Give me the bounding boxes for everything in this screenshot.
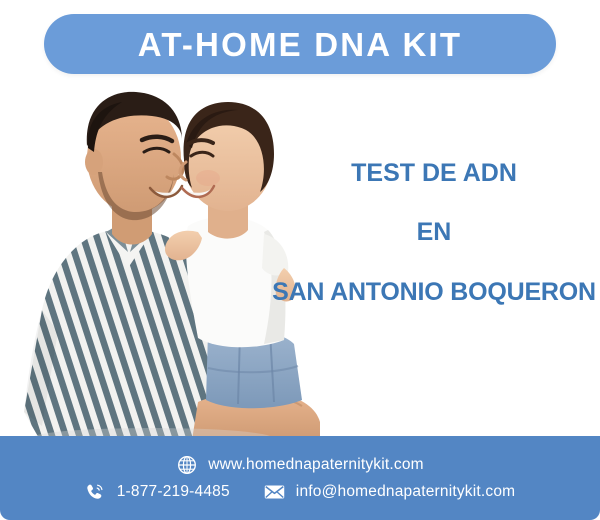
website-contact-item[interactable]: www.homednapaternitykit.com xyxy=(176,454,424,475)
header-banner: AT-HOME DNA KIT xyxy=(44,14,556,74)
footer-contact-bar: www.homednapaternitykit.com 1-877-219-44… xyxy=(0,436,600,520)
phone-contact-item[interactable]: 1-877-219-4485 xyxy=(85,481,230,502)
globe-icon xyxy=(176,454,197,475)
footer-row-phone-email: 1-877-219-4485 info@homednapaternitykit.… xyxy=(85,481,516,502)
email-contact-item[interactable]: info@homednapaternitykit.com xyxy=(264,481,516,502)
headline-line-2: EN xyxy=(268,217,600,248)
headline-block: TEST DE ADN EN SAN ANTONIO BOQUERON xyxy=(268,158,600,308)
website-text: www.homednapaternitykit.com xyxy=(208,457,424,473)
poster-canvas: AT-HOME DNA KIT xyxy=(0,0,600,520)
headline-line-1: TEST DE ADN xyxy=(268,158,600,189)
header-title: AT-HOME DNA KIT xyxy=(138,28,462,61)
envelope-icon xyxy=(264,481,285,502)
email-text: info@homednapaternitykit.com xyxy=(296,484,516,500)
headline-line-3: SAN ANTONIO BOQUERON xyxy=(268,277,600,308)
phone-text: 1-877-219-4485 xyxy=(117,484,230,500)
phone-icon xyxy=(85,481,106,502)
footer-row-website: www.homednapaternitykit.com xyxy=(176,454,424,475)
